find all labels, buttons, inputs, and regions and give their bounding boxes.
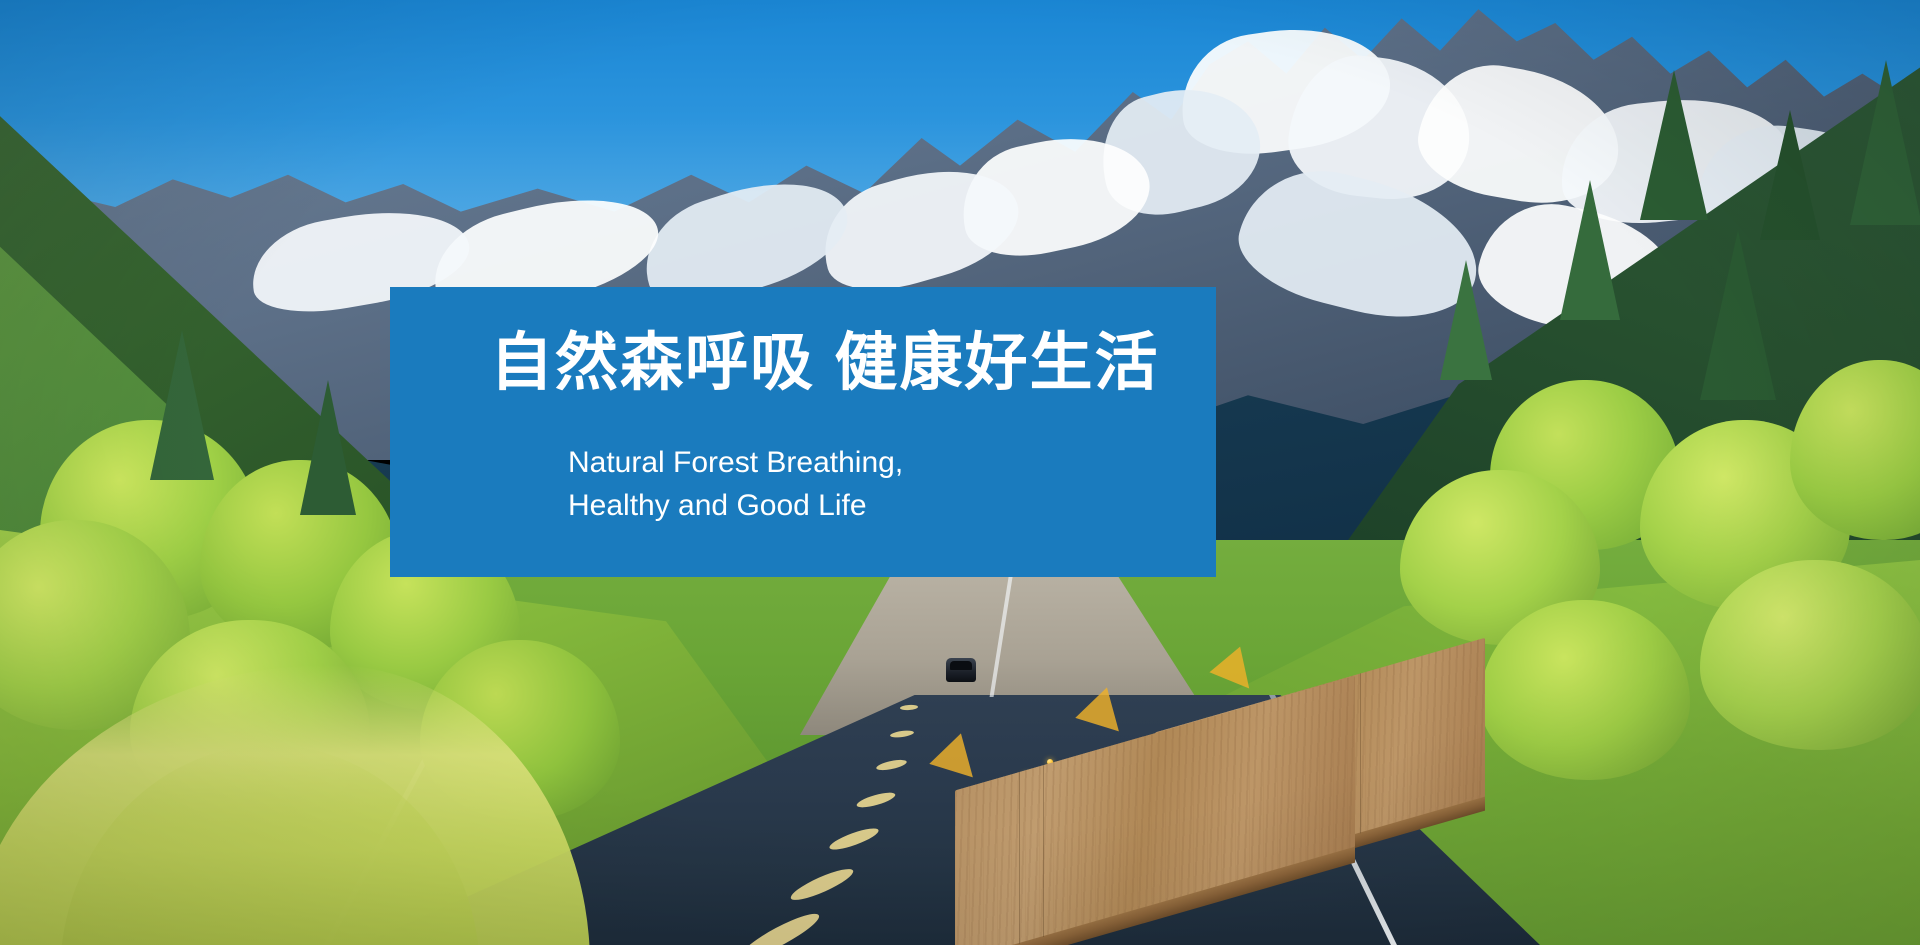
conifer-tree <box>1760 110 1820 240</box>
conifer-tree <box>150 330 214 480</box>
conifer-tree <box>1640 70 1708 220</box>
hero-banner: 自然森呼吸 健康好生活 Natural Forest Breathing, He… <box>0 0 1920 945</box>
car-on-road <box>946 658 976 682</box>
page-title: 自然森呼吸 健康好生活 <box>490 329 1160 398</box>
plank-edge <box>955 847 1355 945</box>
conifer-tree <box>1560 180 1620 320</box>
wood-flooring-planks <box>955 685 1495 945</box>
headline-panel: 自然森呼吸 健康好生活 Natural Forest Breathing, He… <box>390 287 1216 577</box>
subtitle-line-1: Natural Forest Breathing, <box>568 442 903 485</box>
conifer-tree <box>300 380 356 515</box>
plank-seam <box>1043 765 1044 937</box>
conifer-tree <box>1700 230 1776 400</box>
plank-seam <box>1019 772 1020 944</box>
page-subtitle: Natural Forest Breathing, Healthy and Go… <box>568 442 903 527</box>
conifer-tree <box>1850 60 1920 225</box>
plank-seam <box>1360 673 1361 833</box>
wood-plank-front <box>955 676 1355 945</box>
airflow-arrow <box>1075 687 1134 746</box>
subtitle-line-2: Healthy and Good Life <box>568 485 903 528</box>
conifer-tree <box>1440 260 1492 380</box>
